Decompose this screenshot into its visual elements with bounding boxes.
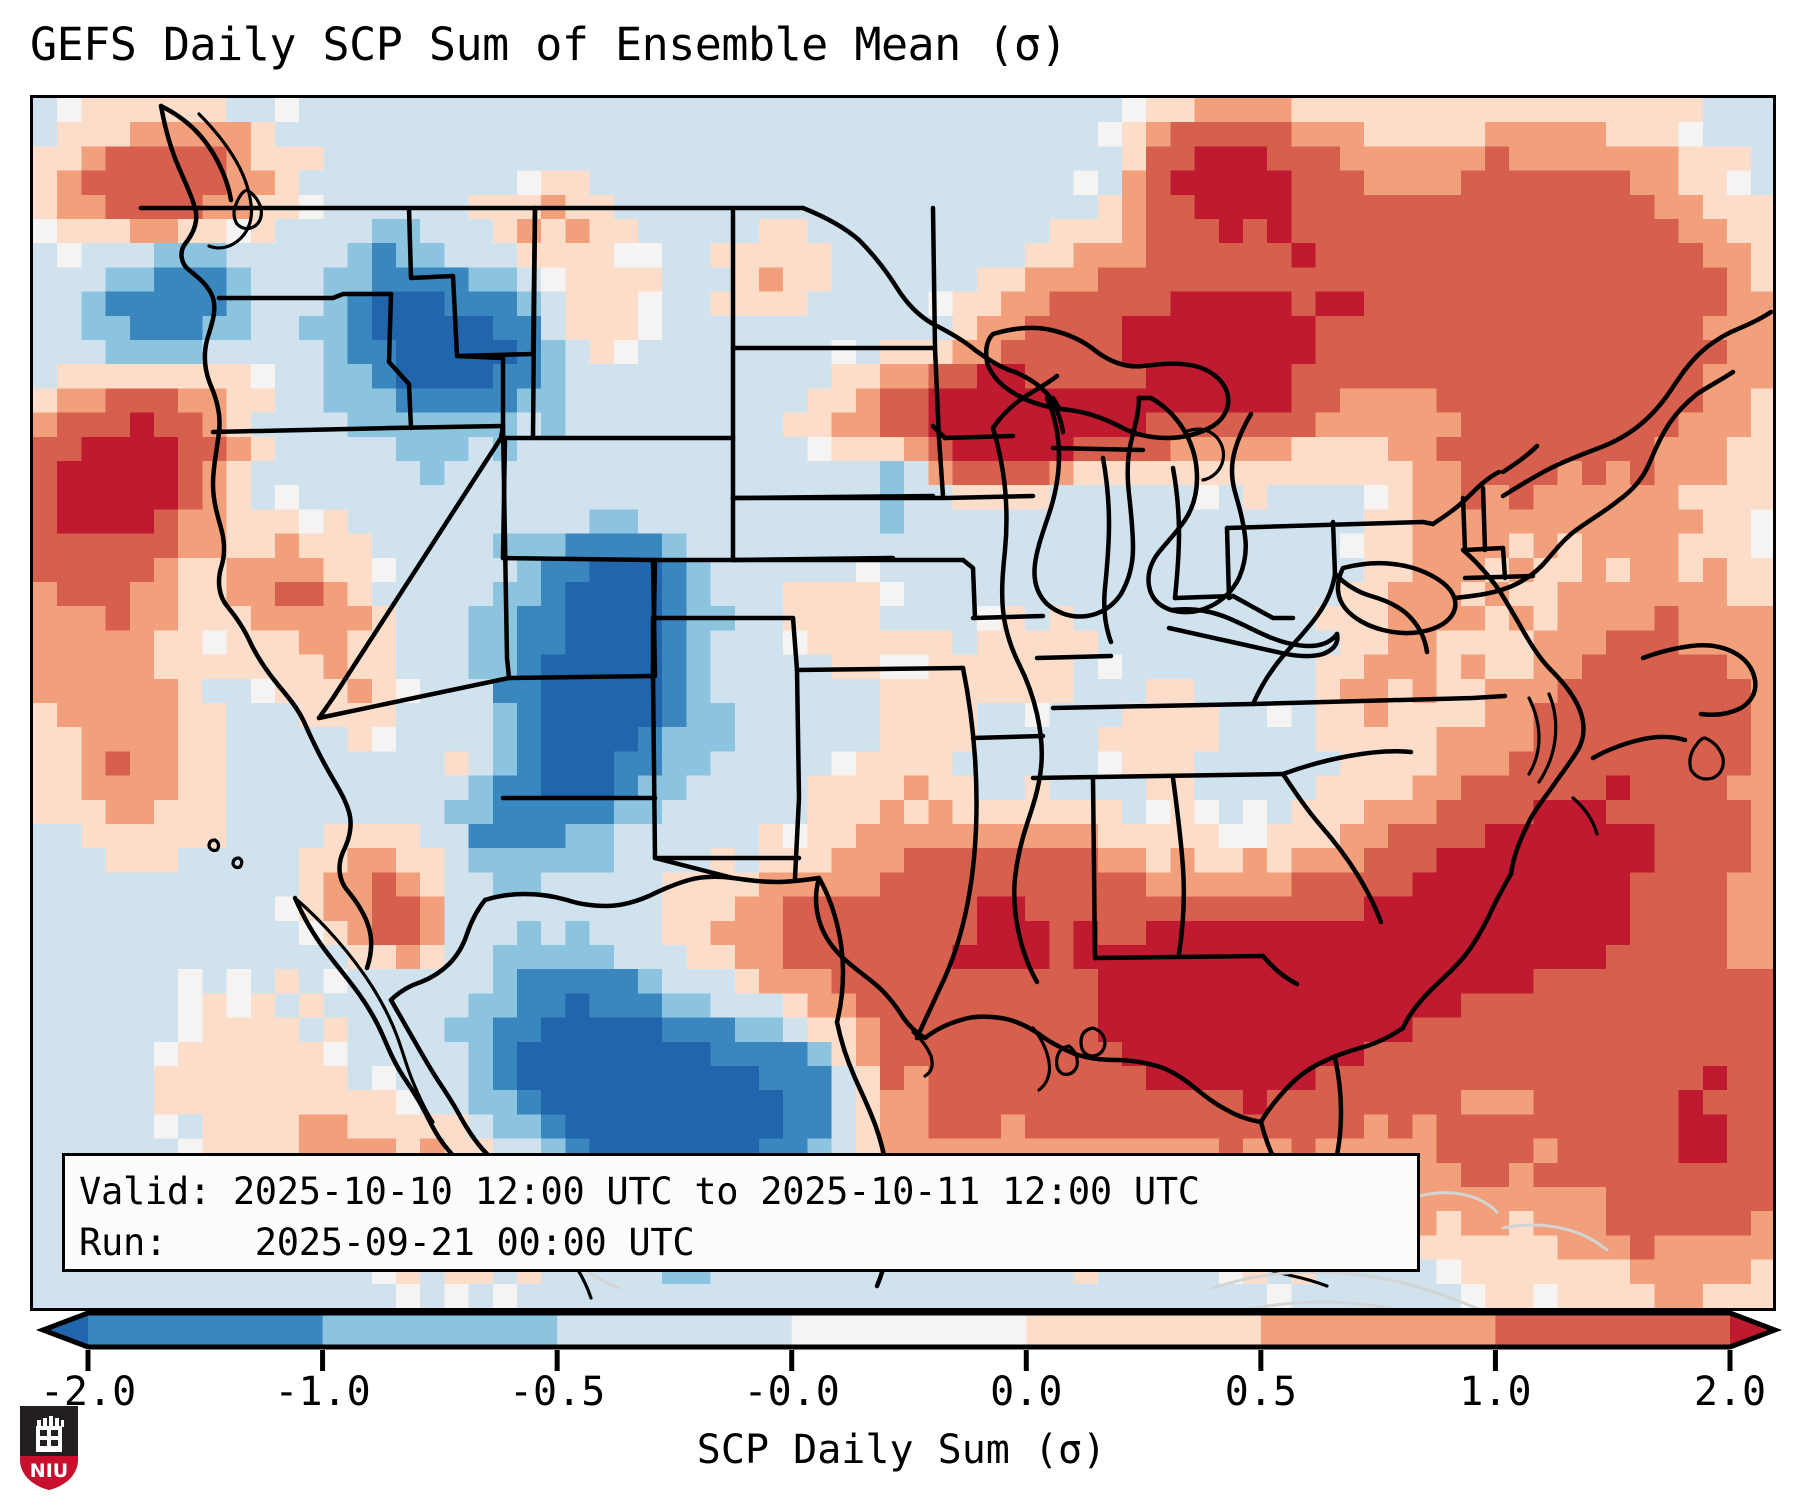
valid-run-annotation: Valid: 2025-10-10 12:00 UTC to 2025-10-1… bbox=[62, 1153, 1420, 1272]
colorbar-segment bbox=[1495, 1313, 1730, 1347]
colorbar-tick-label: -0.0 bbox=[744, 1368, 840, 1416]
map-boundary bbox=[1503, 548, 1505, 578]
niu-logo-text: NIU bbox=[30, 1460, 68, 1482]
colorbar-tick-label: 0.5 bbox=[1225, 1368, 1297, 1416]
niu-logo: NIU bbox=[18, 1404, 80, 1492]
colorbar bbox=[0, 1305, 1803, 1375]
colorbar-axis-label: SCP Daily Sum (σ) bbox=[0, 1425, 1803, 1475]
map-boundary bbox=[509, 676, 653, 678]
map-boundary bbox=[1093, 778, 1095, 958]
map-boundary bbox=[945, 436, 1013, 438]
annotation-valid-line: Valid: 2025-10-10 12:00 UTC to 2025-10-1… bbox=[79, 1166, 1403, 1217]
page-title: GEFS Daily SCP Sum of Ensemble Mean (σ) bbox=[30, 14, 1775, 76]
colorbar-tick-label: -2.0 bbox=[40, 1368, 136, 1416]
map-boundary bbox=[1053, 448, 1143, 450]
colorbar-tick-label: 2.0 bbox=[1694, 1368, 1766, 1416]
colorbar-tick-label: 0.0 bbox=[990, 1368, 1062, 1416]
map-boundary bbox=[973, 616, 1043, 618]
map-boundary bbox=[1465, 576, 1533, 578]
map-panel bbox=[30, 95, 1776, 1311]
map-boundary bbox=[503, 438, 505, 558]
map-boundary bbox=[1483, 488, 1485, 550]
map-boundary bbox=[1333, 522, 1335, 574]
colorbar-segment bbox=[1261, 1313, 1496, 1347]
annotation-run-line: Run: 2025-09-21 00:00 UTC bbox=[79, 1217, 1403, 1268]
colorbar-segment bbox=[557, 1313, 792, 1347]
map-boundary bbox=[1037, 656, 1111, 658]
colorbar-segment bbox=[1026, 1313, 1261, 1347]
colorbar-tick-labels: -2.0-1.0-0.5-0.00.00.51.02.0 bbox=[0, 1368, 1803, 1416]
map-boundary bbox=[1463, 498, 1465, 550]
colorbar-tick-label: -0.5 bbox=[509, 1368, 605, 1416]
map-boundary bbox=[973, 736, 1043, 738]
colorbar-tick-label: 1.0 bbox=[1459, 1368, 1531, 1416]
colorbar-segment bbox=[323, 1313, 558, 1347]
colorbar-svg bbox=[0, 1305, 1803, 1375]
map-boundary bbox=[945, 496, 1033, 498]
colorbar-tick-label: -1.0 bbox=[274, 1368, 370, 1416]
colorbar-segment bbox=[88, 1313, 323, 1347]
map-boundary bbox=[1095, 956, 1263, 958]
map-canvas bbox=[33, 98, 1773, 1308]
figure-root: GEFS Daily SCP Sum of Ensemble Mean (σ) … bbox=[0, 0, 1803, 1506]
colorbar-segment bbox=[792, 1313, 1027, 1347]
